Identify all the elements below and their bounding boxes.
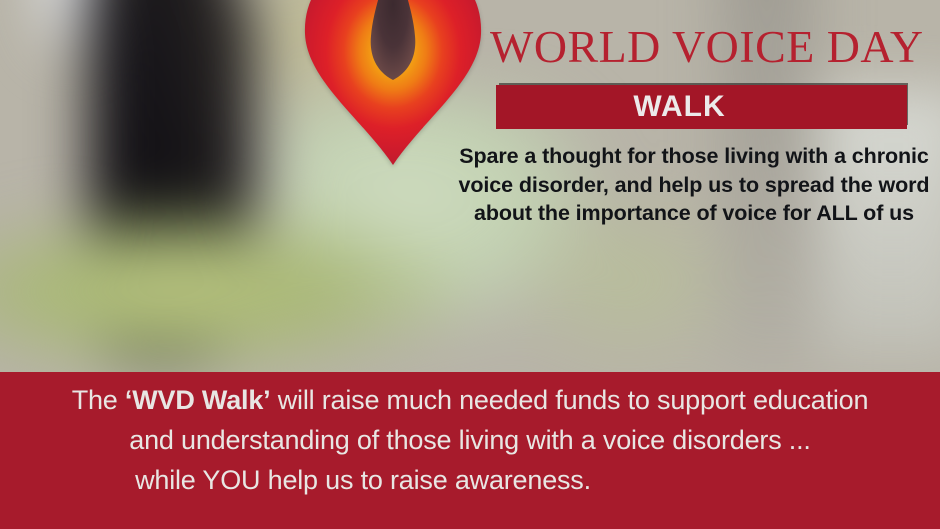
footer-line-2: and understanding of those living with a… [0,420,940,460]
footer-line-1: The ‘WVD Walk’ will raise much needed fu… [0,380,940,420]
footer-line-1-bold: ‘WVD Walk’ [125,385,271,415]
footer-line-3: while YOU help us to raise awareness. [0,460,940,500]
footer-line-1-suffix: will raise much needed funds to support … [270,385,868,415]
footer-line-1-prefix: The [72,385,125,415]
background-green-lower [0,207,459,377]
footer-message: The ‘WVD Walk’ will raise much needed fu… [0,380,940,500]
world-voice-day-poster: WORLD VOICE DAY WALK Spare a thought for… [0,0,940,529]
footer-red-band: The ‘WVD Walk’ will raise much needed fu… [0,372,940,529]
heart-icon [303,0,483,165]
walk-banner: WALK [496,85,907,129]
walk-banner-label: WALK [633,90,725,124]
page-title: WORLD VOICE DAY [490,22,918,72]
heart-voice-logo [303,0,483,165]
lede-paragraph: Spare a thought for those living with a … [452,142,936,228]
